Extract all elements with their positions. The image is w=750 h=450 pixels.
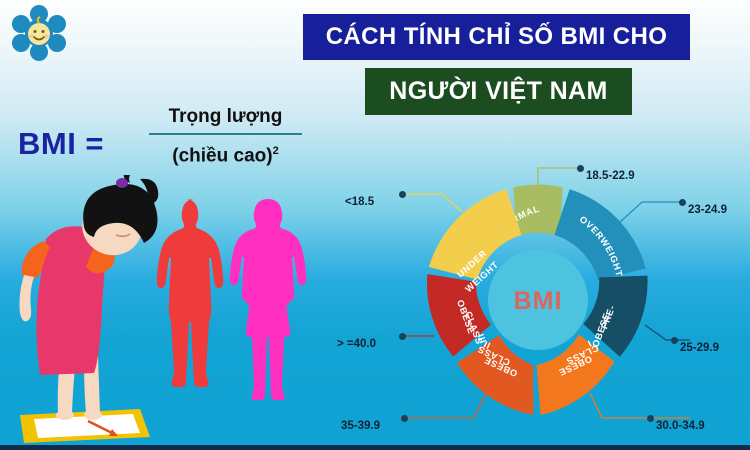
formula-denominator-exponent: 2: [273, 145, 279, 157]
bmi-donut-chart: NORMAL OVERWEIGHT PRE- OBESE: [390, 150, 690, 445]
formula-numerator: Trọng lượng: [143, 104, 308, 130]
callout-label-underweight: <18.5: [345, 196, 374, 208]
title-text-line1: CÁCH TÍNH CHỈ SỐ BMI CHO: [326, 23, 668, 51]
infographic-canvas: CÁCH TÍNH CHỈ SỐ BMI CHO NGƯỜI VIỆT NAM …: [0, 0, 750, 450]
people-illustration: [0, 175, 310, 450]
callout-label-overweight: 23-24.9: [688, 204, 727, 216]
formula-lhs: BMI =: [18, 126, 104, 162]
formula-denominator-text: (chiều cao): [172, 145, 272, 166]
formula-denominator: (chiều cao)2: [143, 138, 308, 169]
callout-dot-overweight: [679, 199, 686, 206]
callout-dot-obese-3: [399, 333, 406, 340]
callout-dot-obese-1: [647, 415, 654, 422]
callout-label-pre-obese: 25-29.9: [680, 342, 719, 354]
bottom-strip: [0, 445, 750, 450]
people-illustration-svg: [0, 175, 310, 450]
callout-dot-obese-2: [401, 415, 408, 422]
title-banner-line1: CÁCH TÍNH CHỈ SỐ BMI CHO: [303, 14, 690, 60]
male-silhouette-icon: [157, 199, 223, 387]
formula-fraction-bar: [149, 133, 302, 135]
formula-fraction: Trọng lượng (chiều cao)2: [143, 104, 308, 169]
girl-on-scale-figure: [20, 175, 159, 420]
callout-dot-underweight: [399, 191, 406, 198]
callout-label-obese-2: 35-39.9: [341, 420, 380, 432]
donut-center-label: BMI: [514, 287, 563, 315]
female-silhouette-icon: [230, 199, 306, 400]
title-text-line2: NGƯỜI VIỆT NAM: [389, 77, 608, 106]
callout-label-obese-1: 30.0-34.9: [656, 420, 705, 432]
callout-label-obese-3: > =40.0: [337, 338, 376, 350]
flower-baby-logo-svg: [8, 4, 70, 62]
callout-dot-pre-obese: [671, 337, 678, 344]
title-banner-line2: NGƯỜI VIỆT NAM: [365, 68, 632, 115]
bmi-donut-svg: NORMAL OVERWEIGHT PRE- OBESE: [390, 150, 690, 445]
flower-baby-logo: [8, 4, 70, 62]
donut-segment-obese-class-3[interactable]: OBESE CLASS III: [427, 274, 491, 356]
callout-dot-normal: [577, 165, 584, 172]
callout-label-normal: 18.5-22.9: [586, 170, 635, 182]
